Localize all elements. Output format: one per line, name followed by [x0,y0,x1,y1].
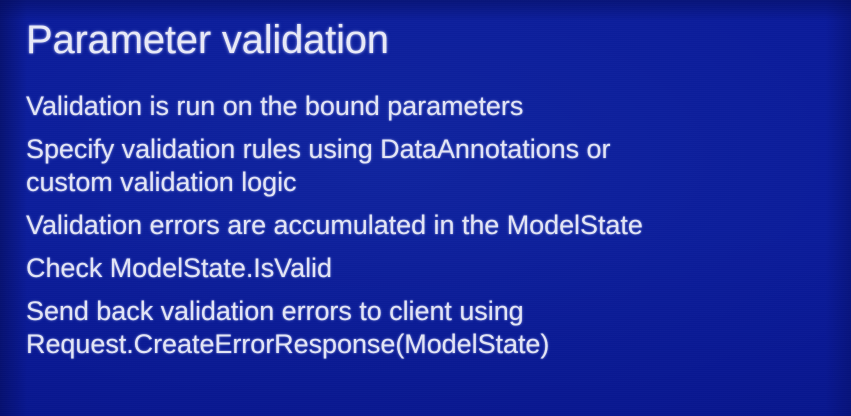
presentation-slide: Parameter validation Validation is run o… [0,0,851,416]
slide-content: Parameter validation Validation is run o… [0,0,851,416]
bullet-line-primary: Check ModelState.IsValid [26,252,831,285]
bullet-line-primary: Validation errors are accumulated in the… [26,209,831,242]
bullet-list: Validation is run on the bound parameter… [26,90,831,361]
bullet-line-primary: Send back validation errors to client us… [26,295,831,328]
bullet-item: Send back validation errors to client us… [26,295,831,361]
bullet-item: Check ModelState.IsValid [26,252,831,285]
bullet-line-wrap: Request.CreateErrorResponse(ModelState) [26,328,831,361]
bullet-line-primary: Specify validation rules using DataAnnot… [26,133,831,166]
bullet-line-wrap: custom validation logic [26,166,831,199]
bullet-line-primary: Validation is run on the bound parameter… [26,90,831,123]
bullet-item: Validation is run on the bound parameter… [26,90,831,123]
bullet-item: Specify validation rules using DataAnnot… [26,133,831,199]
bullet-item: Validation errors are accumulated in the… [26,209,831,242]
slide-title: Parameter validation [26,17,389,64]
